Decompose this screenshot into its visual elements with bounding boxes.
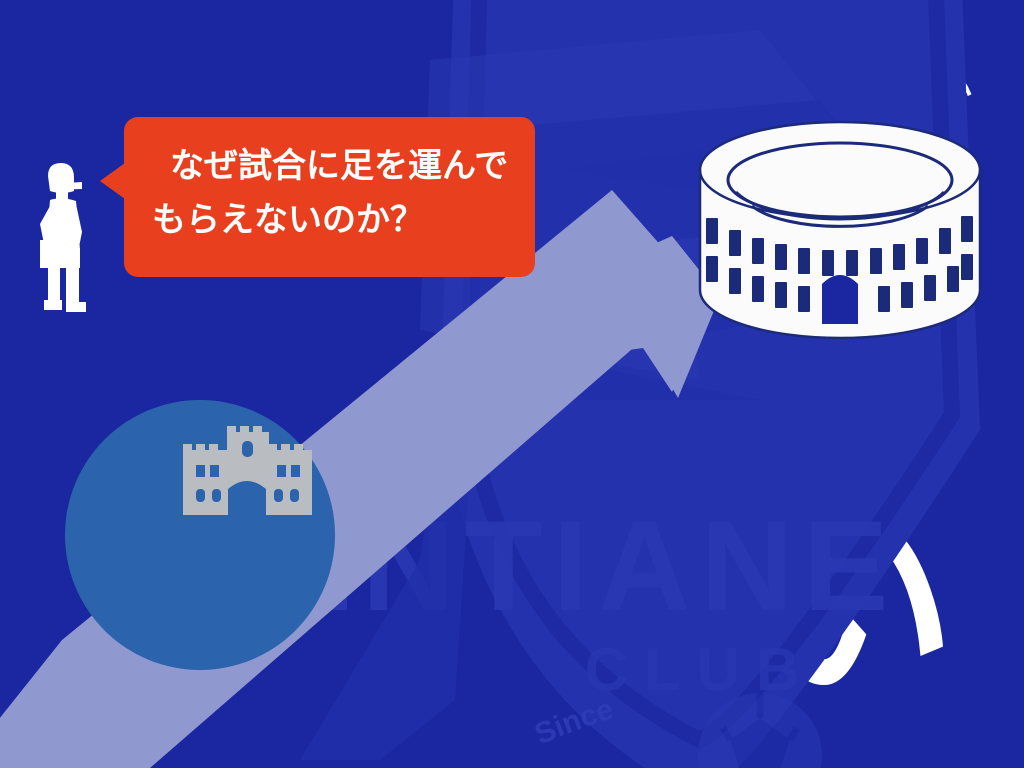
person-silhouette-icon xyxy=(40,163,86,312)
speech-bubble-tail xyxy=(100,163,125,199)
speech-bubble-line-2: もらえないのか？ xyxy=(152,193,509,247)
infographic-canvas: VIENTIANE CLUB Since xyxy=(0,0,1024,768)
speech-bubble: なぜ試合に足を運んで もらえないのか？ xyxy=(124,117,535,277)
speech-bubble-line-1: なぜ試合に足を運んで xyxy=(152,139,509,193)
person-group xyxy=(0,0,1024,768)
